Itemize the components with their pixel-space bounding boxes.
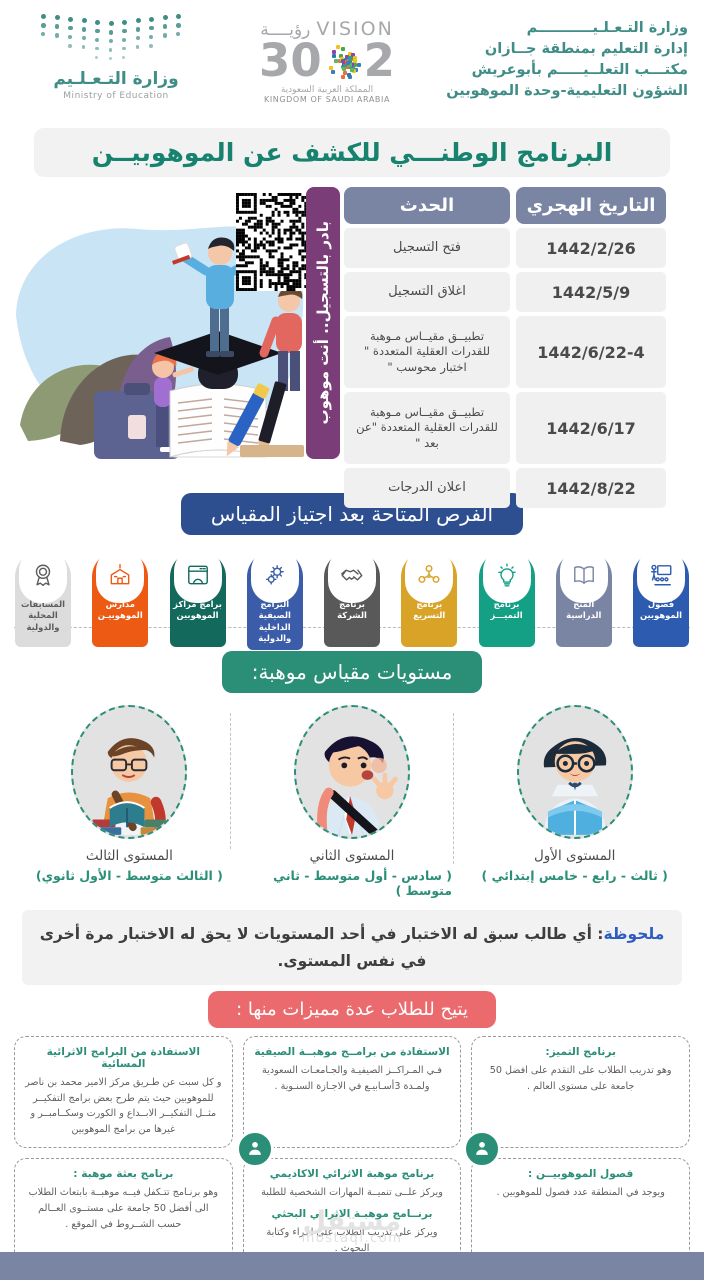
opportunity-pill[interactable]: برنامج التميـــز: [472, 551, 542, 647]
page-title-text: البرنامج الوطنـــي للكشف عن الموهوبيــن: [92, 138, 613, 167]
dept-line-0: وزارة التـعـلـيـــــــــــم: [438, 18, 688, 39]
table-row: 1442/5/9اغلاق التسجيل: [344, 272, 666, 312]
building-window-icon: [174, 547, 222, 603]
levels-title: مستويات مقياس موهبة:: [222, 651, 483, 693]
benefits-title-text: يتيح للطلاب عدة مميزات منها :: [236, 999, 468, 1020]
ministry-name-en: Ministry of Education: [63, 91, 168, 101]
teen-reading-books-avatar: [71, 705, 187, 839]
note-label: ملحوظة: [603, 925, 664, 943]
table-body: 1442/2/26فتح التسجيل1442/5/9اغلاق التسجي…: [344, 228, 666, 508]
benefit-heading: برنامج بعثة موهبة :: [25, 1168, 222, 1180]
boy-waving-schoolbag-avatar: [294, 705, 410, 839]
benefit-body: وهو تدريب الطلاب على التقدم على افضل 50 …: [482, 1063, 679, 1095]
table-row: 1442/6/22-4تطبيــق مقيــاس مـوهبة للقدرا…: [344, 316, 666, 388]
level-grades: ( ثالث - رابع - خامس إبتدائي ): [482, 868, 668, 883]
levels-title-text: مستويات مقياس موهبة:: [252, 660, 453, 684]
table-cell-event: تطبيــق مقيــاس مـوهبة للقدرات العقلية ا…: [344, 316, 510, 388]
register-cta-text: بادر بالتسجيل.. أنت موهوب: [314, 221, 332, 425]
school-building-icon: [96, 547, 144, 603]
gear-settings-icon: [251, 547, 299, 603]
table-cell-date: 1442/8/22: [516, 468, 666, 508]
level-item: المستوى الأول( ثالث - رابع - خامس إبتدائ…: [475, 705, 675, 883]
opportunity-pill[interactable]: المسابقات المحلية والدولية: [8, 551, 78, 647]
level-item: المستوى الثاني( سادس - أول متوسط - ثاني …: [252, 705, 452, 898]
opportunity-pill[interactable]: برنامج الشركة: [317, 551, 387, 647]
benefit-heading: برنامج موهبة الاثرائي الاكاديمي: [254, 1168, 451, 1180]
level-name: المستوى الأول: [534, 848, 615, 864]
opportunity-pill[interactable]: فصول الموهوبين: [626, 551, 696, 647]
benefits-row-1: برنامج التميز:وهو تدريب الطلاب على التقد…: [14, 1036, 690, 1148]
opportunity-pill[interactable]: برنامج التسريع: [394, 551, 464, 647]
benefit-heading: فصول الموهوبيــن :: [482, 1168, 679, 1180]
table-header-date: التاريخ الهجري: [516, 187, 666, 224]
opportunity-pill[interactable]: المنح الدراسية: [549, 551, 619, 647]
level-item: المستوى الثالث( الثالث متوسط - الأول ثان…: [29, 705, 229, 883]
table-cell-date: 1442/6/22-4: [516, 316, 666, 388]
vision-2030-logo: رؤيــــة VISION 2 30 المملكة العربية الس…: [232, 14, 422, 104]
opportunity-pill[interactable]: برامج مراكز الموهوبين: [163, 551, 233, 647]
benefit-card: الاستفادة من البرامج الاثرائية المسائيةو…: [14, 1036, 233, 1148]
table-cell-date: 1442/2/26: [516, 228, 666, 268]
table-cell-date: 1442/6/17: [516, 392, 666, 464]
benefit-card: برنامج التميز:وهو تدريب الطلاب على التقد…: [471, 1036, 690, 1148]
page-title: البرنامج الوطنـــي للكشف عن الموهوبيــن: [34, 128, 670, 177]
teacher-classroom-icon: [637, 547, 685, 603]
table-row: 1442/8/22اعلان الدرجات: [344, 468, 666, 508]
benefit-body: فـي المـراكــز الصيفيـة والجـامعـات السع…: [254, 1063, 451, 1095]
levels-row: المستوى الأول( ثالث - رابع - خامس إبتدائ…: [0, 693, 704, 898]
table-row: 1442/6/17تطبيــق مقيــاس مـوهبة للقدرات …: [344, 392, 666, 464]
table-cell-event: اعلان الدرجات: [344, 468, 510, 508]
benefits-grid: برنامج التميز:وهو تدريب الطلاب على التقد…: [0, 1028, 704, 1268]
dept-line-2: مكتـــب التعلــيـــــم بأبوعريش: [438, 60, 688, 81]
level-name: المستوى الثالث: [86, 848, 173, 864]
dept-line-1: إدارة التعليم بمنطقة جــازان: [438, 39, 688, 60]
opportunities-row: فصول الموهوبينالمنح الدراسيةبرنامج التمي…: [0, 535, 704, 645]
lightbulb-icon: [483, 547, 531, 603]
table-cell-date: 1442/5/9: [516, 272, 666, 312]
table-header-row: التاريخ الهجري الحدث: [344, 187, 666, 224]
schedule-section: بادر بالتسجيل.. أنت موهوب التاريخ الهجري…: [0, 187, 704, 487]
table-row: 1442/2/26فتح التسجيل: [344, 228, 666, 268]
table-cell-event: تطبيــق مقيــاس مـوهبة للقدرات العقلية ا…: [344, 392, 510, 464]
network-gears-icon: [405, 547, 453, 603]
person-badge-icon: [236, 1130, 274, 1168]
kingdom-label-ar: المملكة العربية السعودية: [281, 85, 373, 95]
benefit-heading: الاستفادة من برامــج موهبــة الصيفية: [254, 1046, 451, 1058]
award-medal-icon: [19, 547, 67, 603]
level-grades: ( سادس - أول متوسط - ثاني متوسط ): [252, 868, 452, 898]
handshake-icon: [328, 547, 376, 603]
schedule-table: التاريخ الهجري الحدث 1442/2/26فتح التسجي…: [344, 187, 666, 508]
benefit-heading: برنامج التميز:: [482, 1046, 679, 1058]
boy-glasses-reading-avatar: [517, 705, 633, 839]
dept-line-3: الشؤون التعليمية-وحدة الموهوبين: [438, 81, 688, 102]
opportunity-label: البرامج الصيفية الداخلية والدولية: [247, 599, 303, 644]
benefits-title: يتيح للطلاب عدة مميزات منها :: [208, 991, 496, 1028]
vision-digit-30: 30: [259, 38, 322, 83]
benefit-body: وهو برنـامج تتـكفل فيــه موهبــة بابتعاث…: [25, 1185, 222, 1232]
ministry-logo: وزارة التـعـلـيم Ministry of Education: [16, 14, 216, 101]
table-cell-event: اغلاق التسجيل: [344, 272, 510, 312]
benefit-card: الاستفادة من برامــج موهبــة الصيفيةفـي …: [243, 1036, 462, 1148]
vision-digit-2: 2: [364, 38, 395, 83]
vision-2030-globe-icon: [323, 41, 363, 81]
footer-bar: [0, 1252, 704, 1280]
benefit-heading-secondary: برنــامج موهبـة الاثرائي البحثي: [254, 1208, 451, 1220]
opportunity-label: المسابقات المحلية والدولية: [15, 599, 71, 633]
register-call-to-action-banner: بادر بالتسجيل.. أنت موهوب: [306, 187, 340, 459]
benefit-body: و كل سبت عن طـريق مركز الامير محمد بن نا…: [25, 1075, 222, 1138]
level-grades: ( الثالث متوسط - الأول ثانوي): [36, 868, 223, 883]
infographic-page: وزارة التـعـلـيـــــــــــم إدارة التعلي…: [0, 0, 704, 1280]
note-text: : أي طالب سبق له الاختبار في أحد المستوي…: [40, 925, 604, 970]
vision-number: 2 30: [259, 38, 395, 83]
table-cell-event: فتح التسجيل: [344, 228, 510, 268]
person-badge-icon: [463, 1130, 501, 1168]
note-box: ملحوظة: أي طالب سبق له الاختبار في أحد ا…: [22, 910, 682, 985]
kingdom-label-en: KINGDOM OF SAUDI ARABIA: [264, 95, 390, 104]
benefit-body: ويوجد في المنطقة عدد فصول للموهوبين .: [482, 1185, 679, 1201]
opportunity-pill[interactable]: البرامج الصيفية الداخلية والدولية: [240, 551, 310, 650]
open-book-icon: [560, 547, 608, 603]
benefit-heading: الاستفادة من البرامج الاثرائية المسائية: [25, 1046, 222, 1070]
level-name: المستوى الثاني: [310, 848, 395, 864]
benefit-body: ويركز علــى تنميــة المهارات الشخصية للط…: [254, 1185, 451, 1201]
table-header-event: الحدث: [344, 187, 510, 224]
ministry-name-ar: وزارة التـعـلـيم: [53, 69, 178, 89]
opportunity-pill[interactable]: مدارس الموهوبيـن: [85, 551, 155, 647]
moe-dots-logo: [41, 14, 191, 66]
header: وزارة التـعـلـيـــــــــــم إدارة التعلي…: [0, 0, 704, 122]
department-block: وزارة التـعـلـيـــــــــــم إدارة التعلي…: [438, 14, 688, 102]
